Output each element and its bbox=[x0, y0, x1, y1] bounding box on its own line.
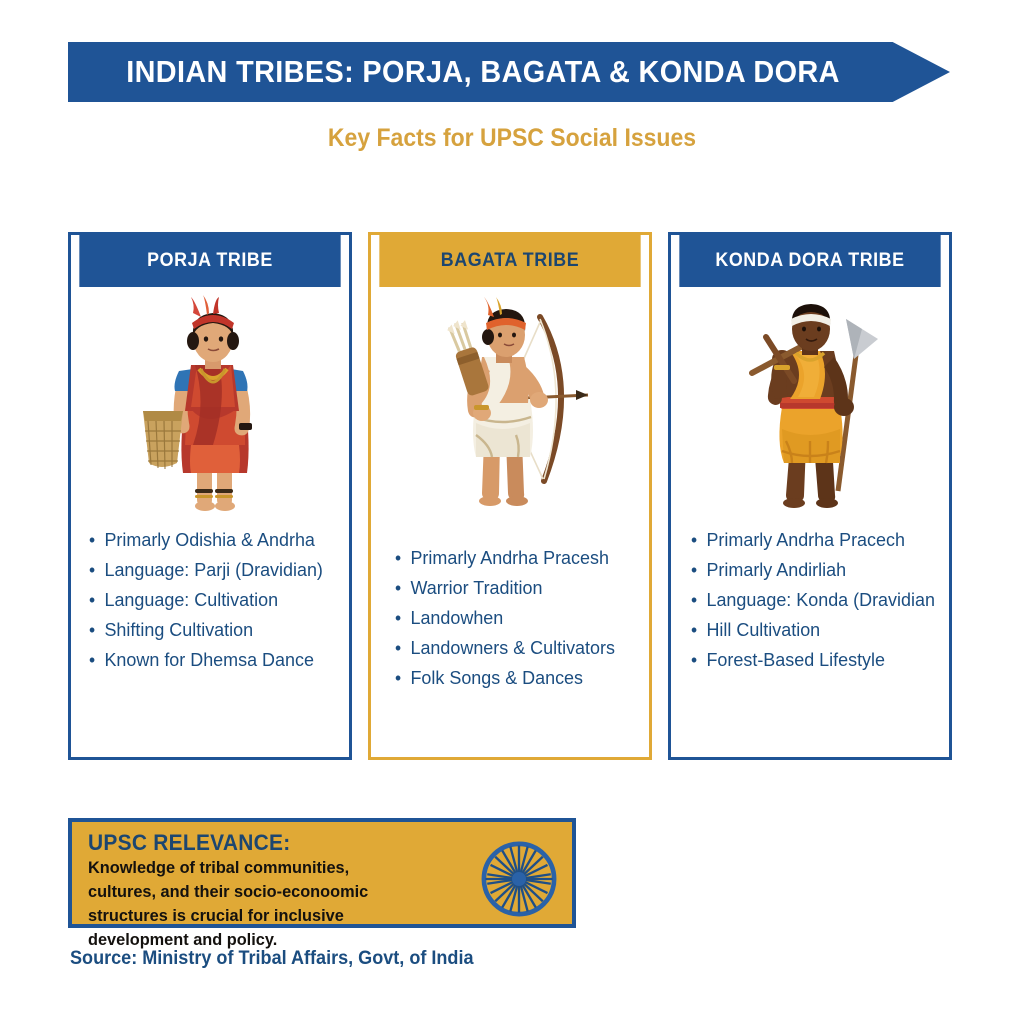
relevance-body: Knowledge of tribal communities, culture… bbox=[88, 856, 405, 952]
facts-list-konda-dora: Primarly Andrha Pracech Primarly Andirli… bbox=[671, 521, 949, 675]
tribe-card-bagata[interactable]: BAGATA TRIBE bbox=[368, 232, 652, 760]
infographic-page: INDIAN TRIBES: PORJA, BAGATA & KONDA DOR… bbox=[0, 0, 1024, 1024]
list-item: Primarly Andrha Pracech bbox=[689, 525, 935, 555]
list-item: Primarly Odishia & Andrha bbox=[87, 525, 335, 555]
page-title: INDIAN TRIBES: PORJA, BAGATA & KONDA DOR… bbox=[97, 42, 869, 102]
list-item: Folk Songs & Dances bbox=[393, 663, 636, 693]
list-item: Language: Cultivation bbox=[87, 585, 335, 615]
source-note: Source: Ministry of Tribal Affairs, Govt… bbox=[70, 948, 474, 970]
tribe-card-konda-dora[interactable]: KONDA DORA TRIBE bbox=[668, 232, 952, 760]
relevance-title: UPSC RELEVANCE: bbox=[88, 830, 535, 856]
page-subtitle: Key Facts for UPSC Social Issues bbox=[41, 124, 983, 153]
konda-dora-man-with-spear-illustration bbox=[671, 287, 949, 521]
card-title-porja: PORJA TRIBE bbox=[79, 235, 340, 287]
list-item: Hill Cultivation bbox=[689, 615, 935, 645]
card-title-konda-dora: KONDA DORA TRIBE bbox=[679, 235, 940, 287]
list-item: Primarly Andirliah bbox=[689, 555, 935, 585]
card-title-bagata: BAGATA TRIBE bbox=[379, 235, 640, 287]
list-item: Landowhen bbox=[393, 603, 636, 633]
list-item: Shifting Cultivation bbox=[87, 615, 335, 645]
tribe-cards-row: PORJA TRIBE bbox=[68, 232, 952, 760]
list-item: Warrior Tradition bbox=[393, 573, 636, 603]
upsc-relevance-box: UPSC RELEVANCE: Knowledge of tribal comm… bbox=[68, 818, 576, 928]
list-item: Primarly Andrha Pracesh bbox=[393, 543, 636, 573]
list-item: Landowners & Cultivators bbox=[393, 633, 636, 663]
ashoka-chakra-icon bbox=[480, 840, 558, 918]
facts-list-bagata: Primarly Andrha Pracesh Warrior Traditio… bbox=[371, 521, 649, 693]
bagata-archer-with-bow-illustration bbox=[371, 287, 649, 521]
list-item: Known for Dhemsa Dance bbox=[87, 645, 335, 675]
list-item: Language: Konda (Dravidian bbox=[689, 585, 935, 615]
tribe-card-porja[interactable]: PORJA TRIBE bbox=[68, 232, 352, 760]
list-item: Language: Parji (Dravidian) bbox=[87, 555, 335, 585]
facts-list-porja: Primarly Odishia & Andrha Language: Parj… bbox=[71, 521, 349, 675]
list-item: Forest-Based Lifestyle bbox=[689, 645, 935, 675]
porja-woman-with-basket-illustration bbox=[71, 287, 349, 521]
header-banner: INDIAN TRIBES: PORJA, BAGATA & KONDA DOR… bbox=[68, 42, 950, 102]
